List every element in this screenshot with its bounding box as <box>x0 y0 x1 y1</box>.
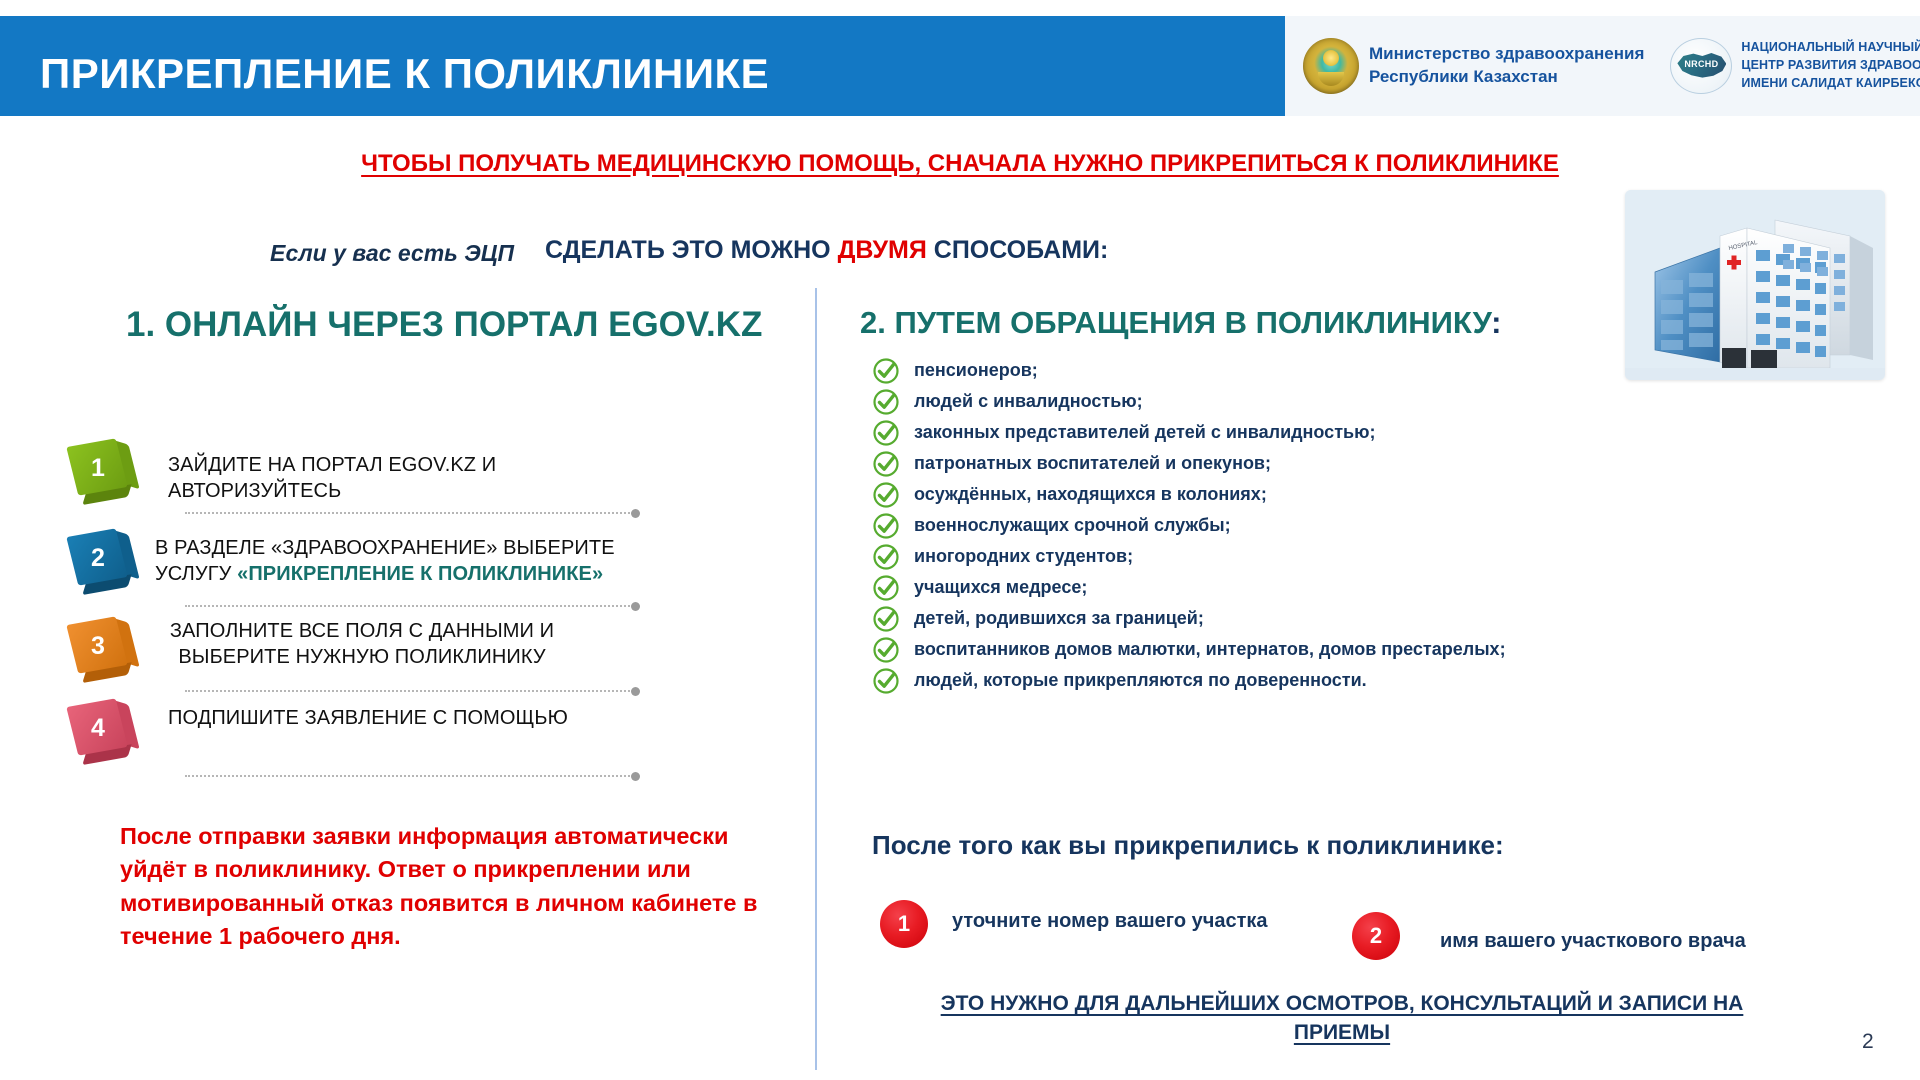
step-number-badge: 4 <box>70 700 132 762</box>
green-check-circle-icon <box>872 667 900 695</box>
green-check-circle-icon <box>872 388 900 416</box>
after-attach-title: После того как вы прикрепились к поликли… <box>872 830 1504 861</box>
checklist-item: патронатных воспитателей и опекунов; <box>872 448 1772 479</box>
checklist-item: людей с инвалидностью; <box>872 386 1772 417</box>
why-note: ЭТО НУЖНО ДЛЯ ДАЛЬНЕЙШИХ ОСМОТРОВ, КОНСУ… <box>872 990 1812 1048</box>
two-ways-before: СДЕЛАТЬ ЭТО МОЖНО <box>545 236 838 264</box>
step-text: ЗАЙДИТЕ НА ПОРТАЛ EGOV.KZ И АВТОРИЗУЙТЕС… <box>168 452 645 505</box>
checklist-item-label: пенсионеров; <box>914 360 1038 381</box>
step-text-line1: В РАЗДЕЛЕ «ЗДРАВООХРАНЕНИЕ» ВЫБЕРИТЕ <box>155 535 615 561</box>
checklist-item-label: патронатных воспитателей и опекунов; <box>914 453 1271 474</box>
step-divider <box>185 512 630 514</box>
step-text-line2: ВЫБЕРИТЕ НУЖНУЮ ПОЛИКЛИНИКУ <box>162 644 562 670</box>
checklist-item: учащихся медресе; <box>872 572 1772 603</box>
page-title: ПРИКРЕПЛЕНИЕ К ПОЛИКЛИНИКЕ <box>40 50 769 98</box>
two-ways-heading: СДЕЛАТЬ ЭТО МОЖНО ДВУМЯ СПОСОБАМИ: <box>545 236 1108 265</box>
green-check-circle-icon <box>872 481 900 509</box>
header-bar: ПРИКРЕПЛЕНИЕ К ПОЛИКЛИНИКЕ <box>0 16 1285 116</box>
green-check-circle-icon <box>872 419 900 447</box>
kazakhstan-emblem-icon <box>1303 38 1359 94</box>
checklist-item: людей, которые прикрепляются по доверенн… <box>872 665 1772 696</box>
step-number-label: 2 <box>70 530 126 586</box>
checklist-item-label: военнослужащих срочной службы; <box>914 515 1231 536</box>
green-check-circle-icon <box>872 636 900 664</box>
step-text: ПОДПИШИТЕ ЗАЯВЛЕНИЕ С ПОМОЩЬЮ <box>168 705 568 731</box>
checklist-item: военнослужащих срочной службы; <box>872 510 1772 541</box>
checklist-item-label: детей, родившихся за границей; <box>914 608 1204 629</box>
right-column-title-text: 2. ПУТЕМ ОБРАЩЕНИЯ В ПОЛИКЛИНИКУ <box>860 305 1491 340</box>
ministry-logo-text: Министерство здравоохранения Республики … <box>1369 43 1644 89</box>
checklist-item-label: людей с инвалидностью; <box>914 391 1143 412</box>
nrchd-logo-text: НАЦИОНАЛЬНЫЙ НАУЧНЫЙ ЦЕНТР РАЗВИТИЯ ЗДРА… <box>1741 39 1920 92</box>
nrchd-map-globe-icon: NRCHD <box>1670 38 1732 94</box>
header-logos: Министерство здравоохранения Республики … <box>1285 16 1920 116</box>
page-number: 2 <box>1862 1030 1874 1054</box>
step-divider <box>185 605 630 607</box>
ministry-logo: Министерство здравоохранения Республики … <box>1303 38 1644 94</box>
nrchd-logo: NRCHD НАЦИОНАЛЬНЫЙ НАУЧНЫЙ ЦЕНТР РАЗВИТИ… <box>1644 38 1920 94</box>
green-check-circle-icon <box>872 605 900 633</box>
after-attach-badge: 2 <box>1352 912 1400 960</box>
checklist-item: осуждённых, находящихся в колониях; <box>872 479 1772 510</box>
green-check-circle-icon <box>872 574 900 602</box>
two-ways-after: СПОСОБАМИ: <box>927 236 1108 264</box>
nrchd-abbr: NRCHD <box>1670 59 1732 69</box>
step-number-badge: 1 <box>70 440 132 502</box>
nrchd-logo-line2: ЦЕНТР РАЗВИТИЯ ЗДРАВООХРАНЕНИЯ <box>1741 57 1920 75</box>
column-divider <box>815 288 817 1070</box>
after-attach-badge: 1 <box>880 900 928 948</box>
step-text-line1: ЗАПОЛНИТЕ ВСЕ ПОЛЯ С ДАННЫМИ И <box>162 618 562 644</box>
step-text: В РАЗДЕЛЕ «ЗДРАВООХРАНЕНИЕ» ВЫБЕРИТЕУСЛУ… <box>155 535 615 588</box>
checklist-item-label: осуждённых, находящихся в колониях; <box>914 484 1267 505</box>
after-attach-label: уточните номер вашего участка <box>952 910 1268 933</box>
banner-headline: ЧТОБЫ ПОЛУЧАТЬ МЕДИЦИНСКУЮ ПОМОЩЬ, СНАЧА… <box>0 150 1920 178</box>
nrchd-logo-line3: ИМЕНИ САЛИДАТ КАИРБЕКОВОЙ <box>1741 75 1920 93</box>
step-text-line1: ПОДПИШИТЕ ЗАЯВЛЕНИЕ С ПОМОЩЬЮ <box>168 705 568 731</box>
step-divider <box>185 775 630 777</box>
green-check-circle-icon <box>872 357 900 385</box>
ecp-note: Если у вас есть ЭЦП <box>252 240 532 267</box>
banner-headline-text: ЧТОБЫ ПОЛУЧАТЬ МЕДИЦИНСКУЮ ПОМОЩЬ, СНАЧА… <box>361 150 1559 177</box>
step-number-label: 1 <box>70 440 126 496</box>
why-note-line1: ЭТО НУЖНО ДЛЯ ДАЛЬНЕЙШИХ ОСМОТРОВ, КОНСУ… <box>941 992 1744 1015</box>
eligibility-checklist: пенсионеров;людей с инвалидностью;законн… <box>872 355 1772 696</box>
checklist-item-label: воспитанников домов малютки, интернатов,… <box>914 639 1506 660</box>
step-text-line2: УСЛУГУ «ПРИКРЕПЛЕНИЕ К ПОЛИКЛИНИКЕ» <box>155 561 615 587</box>
right-column-title-colon: : <box>1491 305 1501 340</box>
step-number-label: 4 <box>70 700 126 756</box>
nrchd-logo-line1: НАЦИОНАЛЬНЫЙ НАУЧНЫЙ <box>1741 39 1920 57</box>
why-note-line2: ПРИЕМЫ <box>1294 1021 1390 1044</box>
step-service-name: «ПРИКРЕПЛЕНИЕ К ПОЛИКЛИНИКЕ» <box>237 563 603 585</box>
hospital-building-image: HOSPITAL <box>1625 190 1885 380</box>
ministry-logo-line1: Министерство здравоохранения <box>1369 43 1644 66</box>
left-column-title: 1. ОНЛАЙН ЧЕРЕЗ ПОРТАЛ EGOV.KZ <box>126 305 762 345</box>
after-attach-label: имя вашего участкового врача <box>1440 930 1746 953</box>
checklist-item: воспитанников домов малютки, интернатов,… <box>872 634 1772 665</box>
checklist-item: иногородних студентов; <box>872 541 1772 572</box>
green-check-circle-icon <box>872 450 900 478</box>
checklist-item-label: иногородних студентов; <box>914 546 1133 567</box>
step-number-badge: 3 <box>70 618 132 680</box>
step-text-line1: ЗАЙДИТЕ НА ПОРТАЛ EGOV.KZ И АВТОРИЗУЙТЕС… <box>168 452 645 505</box>
checklist-item: детей, родившихся за границей; <box>872 603 1772 634</box>
checklist-item-label: законных представителей детей с инвалидн… <box>914 422 1375 443</box>
checklist-item-label: учащихся медресе; <box>914 577 1087 598</box>
ministry-logo-line2: Республики Казахстан <box>1369 66 1644 89</box>
green-check-circle-icon <box>872 512 900 540</box>
step-text: ЗАПОЛНИТЕ ВСЕ ПОЛЯ С ДАННЫМИ ИВЫБЕРИТЕ Н… <box>162 618 562 671</box>
checklist-item: законных представителей детей с инвалидн… <box>872 417 1772 448</box>
left-column-note: После отправки заявки информация автомат… <box>120 820 800 953</box>
checklist-item-label: людей, которые прикрепляются по доверенн… <box>914 670 1367 691</box>
step-number-label: 3 <box>70 618 126 674</box>
two-ways-highlight: ДВУМЯ <box>838 236 927 264</box>
green-check-circle-icon <box>872 543 900 571</box>
step-number-badge: 2 <box>70 530 132 592</box>
right-column-title: 2. ПУТЕМ ОБРАЩЕНИЯ В ПОЛИКЛИНИКУ: <box>860 305 1501 341</box>
step-divider <box>185 690 630 692</box>
